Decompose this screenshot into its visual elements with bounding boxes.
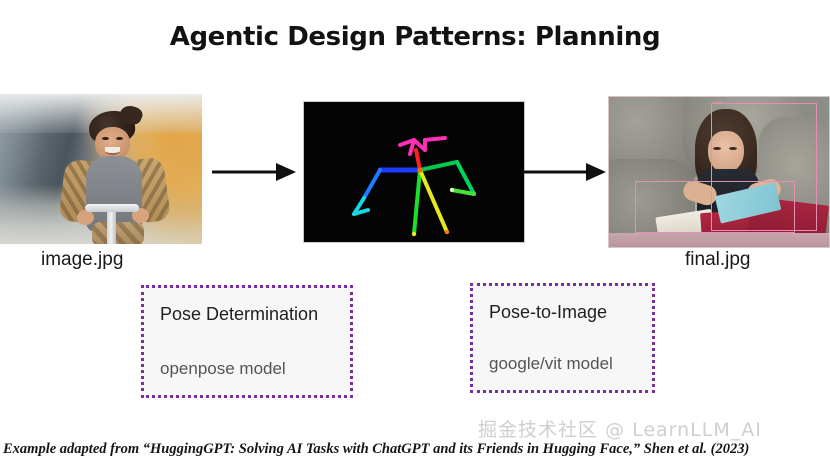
girl-left-eye	[713, 147, 721, 150]
arrow-right-icon-2	[522, 160, 608, 184]
detection-box-label: person	[713, 100, 723, 104]
boy-left-eye	[102, 137, 109, 140]
limb-shoulder-right	[420, 162, 457, 170]
boy-left-hand	[77, 210, 94, 225]
limb-leg-left	[414, 170, 420, 234]
joint-pelvis	[417, 167, 422, 172]
boy-right-eye	[116, 137, 123, 140]
final-image-caption: final.jpg	[685, 249, 751, 271]
limb-neck-torso	[416, 150, 420, 170]
arrow-right-icon-1	[212, 160, 298, 184]
task-model-pose-to-image: google/vit model	[489, 354, 613, 374]
pose-skeleton-image	[303, 101, 525, 243]
joint-foot-left	[412, 232, 416, 236]
task-box-pose-to-image[interactable]: Pose-to-Image google/vit model	[470, 283, 655, 393]
limb-upper-arm-left	[364, 170, 380, 198]
task-title-pose-determination: Pose Determination	[160, 304, 334, 325]
task-title-pose-to-image: Pose-to-Image	[489, 302, 636, 323]
task-box-pose-determination[interactable]: Pose Determination openpose model	[141, 285, 353, 398]
source-image-caption: image.jpg	[41, 249, 123, 271]
joint-foot-right	[445, 230, 449, 234]
limb-leg-right	[420, 170, 447, 232]
limb-head-right	[425, 138, 445, 140]
boy-smile	[105, 147, 120, 155]
pink-blanket	[608, 233, 830, 248]
limb-upper-arm-right	[457, 162, 474, 194]
source-footnote: Example adapted from “HuggingGPT: Solvin…	[3, 441, 749, 458]
task-model-pose-determination: openpose model	[160, 359, 286, 379]
page-title: Agentic Design Patterns: Planning	[0, 22, 830, 52]
girl-right-eye	[729, 147, 737, 150]
scooter-handlebar	[85, 204, 139, 212]
boy-legs	[92, 222, 144, 244]
source-image	[0, 94, 202, 244]
watermark: 掘金技术社区 @ LearnLLM_AI	[478, 415, 762, 442]
girl-face	[708, 131, 744, 173]
joint-hand-right	[450, 188, 454, 192]
openpose-skeleton	[304, 102, 524, 242]
final-image: person	[608, 96, 830, 248]
